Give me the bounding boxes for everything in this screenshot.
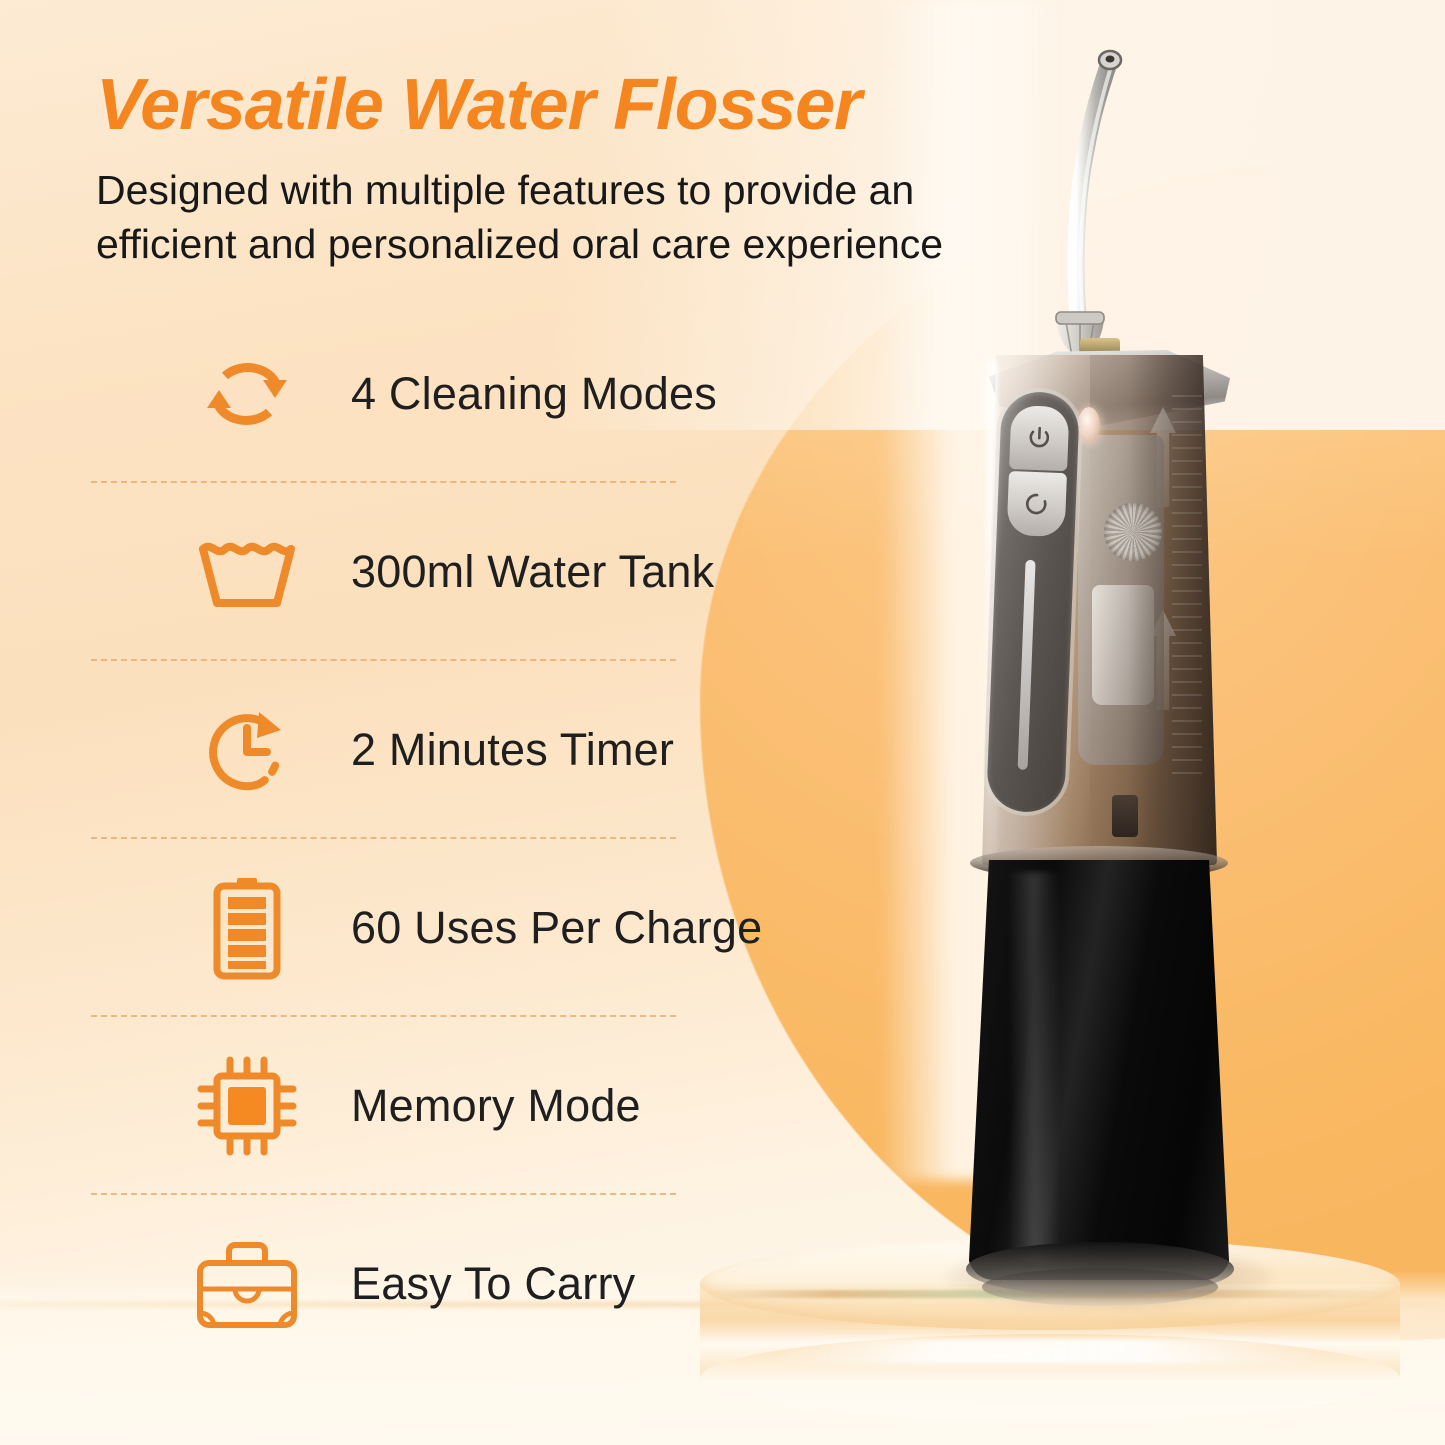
feature-label: 2 Minutes Timer [351, 724, 674, 776]
page-subtitle: Designed with multiple features to provi… [96, 163, 1056, 271]
indicator-light [1078, 407, 1100, 443]
feature-label: 300ml Water Tank [351, 546, 714, 598]
feature-item-water-tank: 300ml Water Tank [0, 483, 760, 661]
feature-label: 4 Cleaning Modes [351, 368, 717, 420]
feature-item-memory-mode: Memory Mode [0, 1017, 760, 1195]
timer-clock-icon [193, 696, 301, 804]
pedestal-gloss [770, 1338, 1330, 1364]
feature-label: Easy To Carry [351, 1258, 635, 1310]
battery-full-icon [193, 874, 301, 982]
feature-item-timer: 2 Minutes Timer [0, 661, 760, 839]
water-tank-icon [193, 518, 301, 626]
tank-right-shading [1128, 355, 1217, 865]
feature-list: 4 Cleaning Modes 300ml Water Tank [0, 305, 760, 1373]
panel-light-strip [1018, 560, 1036, 770]
product-water-flosser [930, 20, 1290, 1310]
mode-button[interactable] [1007, 471, 1067, 537]
feature-label: Memory Mode [351, 1080, 641, 1132]
feature-item-cleaning-modes: 4 Cleaning Modes [0, 305, 760, 483]
feature-item-portable: Easy To Carry [0, 1195, 760, 1373]
nozzle-jet-tip [930, 20, 1290, 380]
power-button[interactable] [1009, 405, 1069, 471]
page-subtitle-line-2: efficient and personalized oral care exp… [96, 217, 1056, 271]
briefcase-icon [193, 1230, 301, 1338]
control-panel [986, 391, 1080, 814]
refresh-cycle-icon [193, 340, 301, 448]
base-gloss-highlight [1008, 872, 1060, 1262]
page-subtitle-line-1: Designed with multiple features to provi… [96, 163, 1056, 217]
page-title: Versatile Water Flosser [96, 64, 861, 146]
feature-item-battery: 60 Uses Per Charge [0, 839, 760, 1017]
cpu-chip-icon [193, 1052, 301, 1160]
feature-label: 60 Uses Per Charge [351, 902, 762, 954]
base-foot [982, 1268, 1218, 1306]
infographic-canvas: Versatile Water Flosser Designed with mu… [0, 0, 1445, 1445]
